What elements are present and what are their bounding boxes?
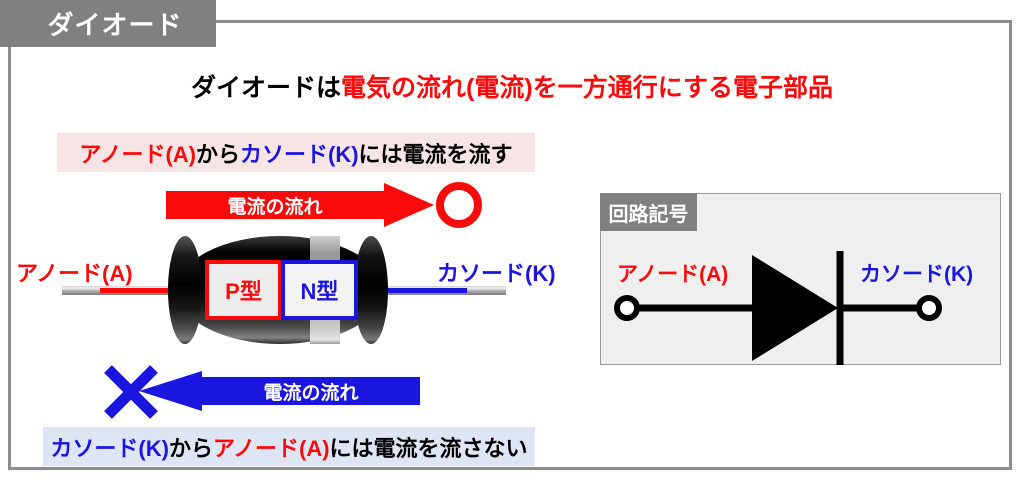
n-type-region: N型 <box>281 260 358 320</box>
header-tab: ダイオード <box>0 0 216 47</box>
forward-current-arrow: 電流の流れ <box>166 183 434 227</box>
package-cathode-label: カソード(K) <box>437 256 556 288</box>
forward-banner-anode: アノード(A) <box>79 137 196 169</box>
title-segment-black: ダイオードは <box>191 74 341 102</box>
forward-banner-tail: には電流を流す <box>359 137 513 169</box>
reverse-current-arrow: 電流の流れ <box>139 371 420 411</box>
page-title: ダイオードは電気の流れ(電流)を一方通行にする電子部品 <box>0 68 1024 104</box>
forward-arrow-label: 電流の流れ <box>166 183 384 227</box>
reverse-bias-banner: カソード(K)からアノード(A)には電流を流さない <box>43 427 535 466</box>
header-tab-label: ダイオード <box>33 5 182 42</box>
diode-package-illustration: P型 N型 <box>168 236 392 344</box>
symbol-anode-label: アノード(A) <box>617 258 728 288</box>
title-segment-red: 電気の流れ(電流)を一方通行にする電子部品 <box>341 74 833 102</box>
reverse-banner-anode: アノード(A) <box>213 431 330 463</box>
reverse-arrow-label: 電流の流れ <box>202 371 420 411</box>
n-type-label: N型 <box>301 274 339 306</box>
circuit-symbol-tab: 回路記号 <box>600 193 697 231</box>
package-anode-label: アノード(A) <box>16 256 133 288</box>
reverse-banner-from: から <box>169 431 213 463</box>
diode-cap-right <box>354 236 388 344</box>
diode-cap-left <box>168 236 202 344</box>
symbol-cathode-label: カソード(K) <box>860 258 973 288</box>
forward-banner-from: から <box>196 137 240 169</box>
circuit-symbol-tab-label: 回路記号 <box>609 198 689 227</box>
forward-bias-banner: アノード(A)からカソード(K)には電流を流す <box>57 133 535 172</box>
p-type-region: P型 <box>205 260 282 320</box>
forward-banner-cathode: カソード(K) <box>240 137 359 169</box>
slide-canvas: ダイオード ダイオードは電気の流れ(電流)を一方通行にする電子部品 アノード(A… <box>0 0 1024 489</box>
reverse-banner-tail: には電流を流さない <box>330 431 528 463</box>
ng-cross-shape <box>103 364 159 420</box>
p-type-label: P型 <box>225 274 262 306</box>
reverse-banner-cathode: カソード(K) <box>50 431 169 463</box>
ng-cross-icon <box>103 364 159 420</box>
ok-circle-icon <box>436 182 482 228</box>
